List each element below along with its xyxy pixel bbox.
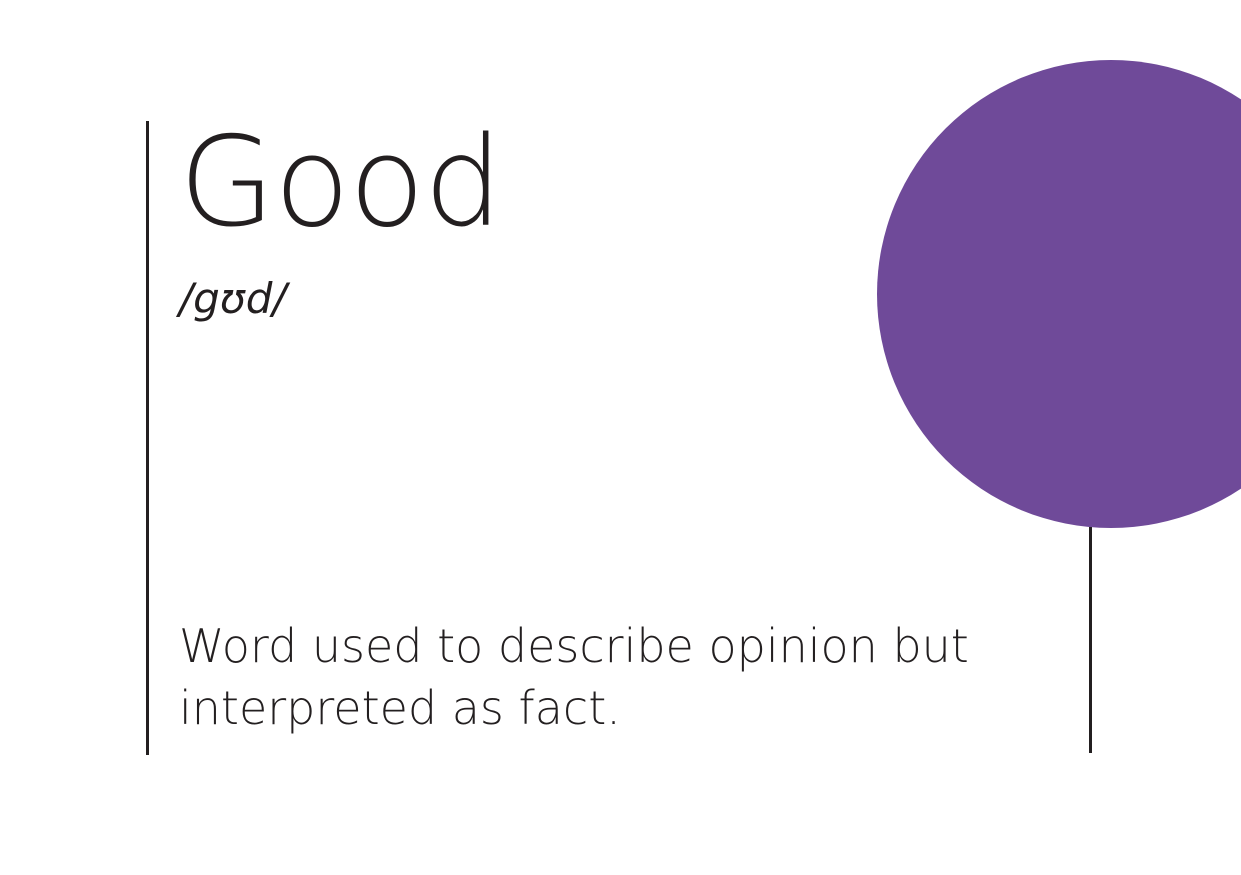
entry-definition: Word used to describe opinion but interp… <box>179 615 979 739</box>
left-accent-rule <box>146 121 149 755</box>
dictionary-entry: Good /gʊd/ Word used to describe opinion… <box>179 121 999 245</box>
entry-word: Good <box>179 121 999 245</box>
vertical-stem-line <box>1089 527 1092 753</box>
definition-card: Good /gʊd/ Word used to describe opinion… <box>0 0 1241 875</box>
entry-pronunciation: /gʊd/ <box>179 275 287 323</box>
